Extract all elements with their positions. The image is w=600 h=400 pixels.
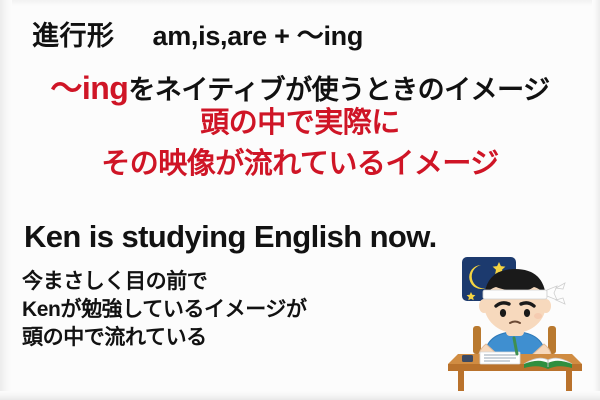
title-row: 進行形 am,is,are + 〜ing bbox=[0, 14, 600, 53]
notebook-shape bbox=[480, 352, 520, 364]
explanation-block: 今まさしく目の前で Kenが勉強しているイメージが 頭の中で流れている bbox=[22, 268, 442, 352]
illustration-boy-studying bbox=[440, 252, 590, 394]
page-edge-top bbox=[0, 0, 600, 6]
example-sentence: Ken is studying English now. bbox=[24, 219, 437, 255]
headline-ing-highlight: 〜ing bbox=[50, 70, 128, 106]
headline-line-1-rest: をネイティブが使うときのイメージ bbox=[128, 75, 549, 105]
headline-block: 〜ingをネイティブが使うときのイメージ 頭の中で実際に その映像が流れているイ… bbox=[0, 72, 600, 182]
headline-line-2: 頭の中で実際に bbox=[0, 106, 600, 141]
headline-line-1: 〜ingをネイティブが使うときのイメージ bbox=[0, 72, 600, 106]
page-edge-right bbox=[592, 0, 600, 400]
explanation-line-2: Kenが勉強しているイメージが bbox=[22, 296, 442, 324]
page-edge-left bbox=[0, 0, 12, 400]
grammar-topic-label: 進行形 bbox=[32, 14, 115, 53]
eraser-shape bbox=[462, 355, 473, 362]
grammar-formula-label: am,is,are + 〜ing bbox=[153, 14, 364, 53]
explanation-line-3: 頭の中で流れている bbox=[22, 324, 442, 352]
headline-line-3: その映像が流れているイメージ bbox=[0, 147, 600, 182]
slide-canvas: 進行形 am,is,are + 〜ing 〜ingをネイティブが使うときのイメー… bbox=[0, 0, 600, 400]
explanation-line-1: 今まさしく目の前で bbox=[22, 268, 442, 296]
